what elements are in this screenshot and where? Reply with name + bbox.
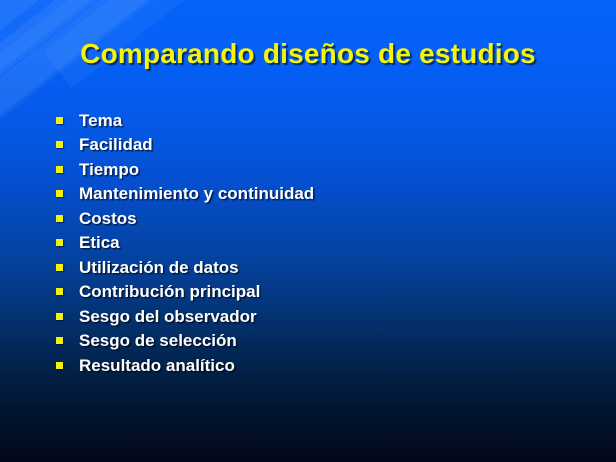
square-bullet-icon (56, 264, 63, 271)
presentation-slide: Comparando diseños de estudios Tema Faci… (0, 0, 616, 462)
square-bullet-icon (56, 215, 63, 222)
square-bullet-icon (56, 141, 63, 148)
square-bullet-icon (56, 337, 63, 344)
list-item-label: Sesgo de selección (79, 332, 237, 349)
list-item-label: Mantenimiento y continuidad (79, 185, 314, 202)
list-item-label: Tiempo (79, 161, 139, 178)
list-item-label: Utilización de datos (79, 259, 239, 276)
slide-title: Comparando diseños de estudios (0, 38, 616, 70)
square-bullet-icon (56, 166, 63, 173)
list-item: Sesgo del observador (56, 304, 576, 329)
list-item-label: Contribución principal (79, 283, 260, 300)
list-item: Resultado analítico (56, 353, 576, 378)
square-bullet-icon (56, 362, 63, 369)
list-item-label: Sesgo del observador (79, 308, 257, 325)
list-item-label: Etica (79, 234, 120, 251)
square-bullet-icon (56, 239, 63, 246)
list-item: Tiempo (56, 157, 576, 182)
list-item: Mantenimiento y continuidad (56, 182, 576, 207)
list-item-label: Facilidad (79, 136, 153, 153)
square-bullet-icon (56, 313, 63, 320)
list-item: Etica (56, 231, 576, 256)
bullet-list: Tema Facilidad Tiempo Mantenimiento y co… (56, 108, 576, 378)
list-item: Facilidad (56, 133, 576, 158)
square-bullet-icon (56, 190, 63, 197)
list-item: Costos (56, 206, 576, 231)
list-item-label: Costos (79, 210, 137, 227)
list-item: Contribución principal (56, 280, 576, 305)
list-item-label: Tema (79, 112, 122, 129)
list-item: Tema (56, 108, 576, 133)
list-item: Sesgo de selección (56, 329, 576, 354)
square-bullet-icon (56, 288, 63, 295)
list-item-label: Resultado analítico (79, 357, 235, 374)
list-item: Utilización de datos (56, 255, 576, 280)
square-bullet-icon (56, 117, 63, 124)
